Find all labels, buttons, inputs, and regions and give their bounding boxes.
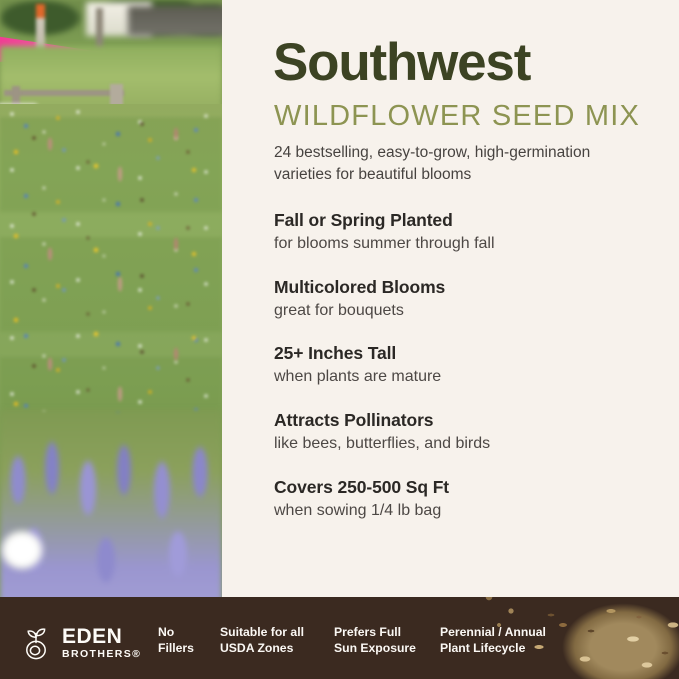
eden-brothers-logo: EDEN BROTHERS® bbox=[22, 623, 148, 663]
product-title: Southwest bbox=[273, 36, 530, 89]
feature-subtitle: like bees, butterflies, and birds bbox=[274, 434, 654, 455]
feature-subtitle: for blooms summer through fall bbox=[274, 234, 654, 255]
logo-secondary-text: BROTHERS® bbox=[62, 649, 141, 660]
list-item: Attracts Pollinators like bees, butterfl… bbox=[274, 410, 654, 455]
list-item: Fall or Spring Planted for blooms summer… bbox=[274, 210, 654, 255]
status-badge: Prefers Full Sun Exposure bbox=[334, 624, 416, 657]
footer-badge-group: No Fillers Suitable for all USDA Zones P… bbox=[158, 624, 679, 670]
feature-list: Fall or Spring Planted for blooms summer… bbox=[274, 210, 654, 543]
product-info-card: Southwest WILDFLOWER SEED MIX 24 bestsel… bbox=[0, 0, 679, 679]
brand-footer-bar: EDEN BROTHERS® No Fillers Suitable for a… bbox=[0, 597, 679, 679]
product-content-panel: Southwest WILDFLOWER SEED MIX 24 bestsel… bbox=[222, 0, 679, 679]
list-item: 25+ Inches Tall when plants are mature bbox=[274, 343, 654, 388]
list-item: Multicolored Blooms great for bouquets bbox=[274, 277, 654, 322]
product-subtitle: WILDFLOWER SEED MIX bbox=[274, 102, 640, 131]
torn-soil-edge bbox=[0, 597, 679, 605]
feature-title: Covers 250-500 Sq Ft bbox=[274, 477, 654, 499]
scattered-seed-crumbs bbox=[479, 597, 539, 633]
feature-title: 25+ Inches Tall bbox=[274, 343, 654, 365]
list-item: Covers 250-500 Sq Ft when sowing 1/4 lb … bbox=[274, 477, 654, 522]
feature-title: Attracts Pollinators bbox=[274, 410, 654, 432]
logo-wordmark: EDEN BROTHERS® bbox=[62, 626, 141, 660]
photo-purple-salvia bbox=[0, 410, 222, 612]
status-badge: No Fillers bbox=[158, 624, 194, 657]
photo-white-foreground-bloom bbox=[0, 520, 56, 580]
feature-subtitle: when sowing 1/4 lb bag bbox=[274, 501, 654, 522]
wildflower-meadow-photo bbox=[0, 0, 222, 612]
logo-primary-text: EDEN bbox=[62, 626, 141, 647]
feature-subtitle: when plants are mature bbox=[274, 367, 654, 388]
product-description: 24 bestselling, easy-to-grow, high-germi… bbox=[274, 142, 644, 187]
sprout-seedling-icon bbox=[22, 626, 54, 660]
status-badge: Suitable for all USDA Zones bbox=[220, 624, 304, 657]
photo-structure bbox=[128, 6, 222, 36]
photo-dark-centers bbox=[0, 104, 222, 460]
feature-subtitle: great for bouquets bbox=[274, 301, 654, 322]
feature-title: Fall or Spring Planted bbox=[274, 210, 654, 232]
feature-title: Multicolored Blooms bbox=[274, 277, 654, 299]
